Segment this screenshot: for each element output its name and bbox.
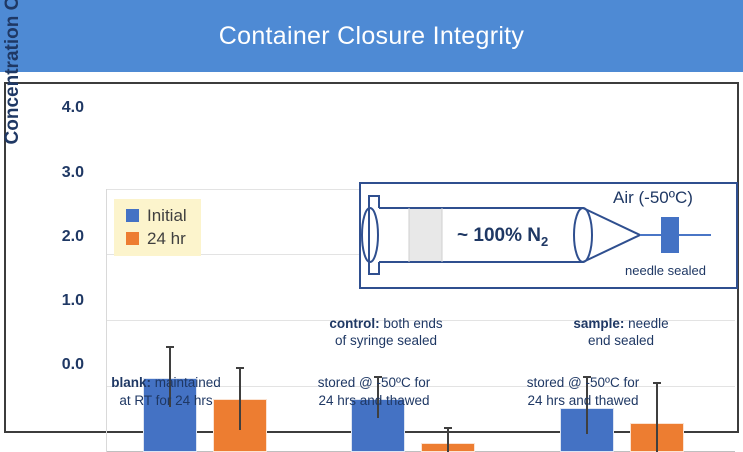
legend-item-24hr[interactable]: 24 hr xyxy=(126,227,187,250)
error-bar-24hr-control xyxy=(447,428,449,452)
y-axis-title-text: Concentration O xyxy=(2,0,23,144)
annotation-control-line2: of syringe sealed xyxy=(291,333,481,350)
legend-label-24hr: 24 hr xyxy=(147,229,186,249)
annotation-control-line1: both ends xyxy=(380,316,443,331)
square-swatch-orange-icon xyxy=(126,232,139,245)
annotation-sample-keyword: sample: xyxy=(573,316,624,331)
legend-item-initial[interactable]: Initial xyxy=(126,204,187,227)
chart-legend: Initial 24 hr xyxy=(114,199,201,256)
square-swatch-blue-icon xyxy=(126,209,139,222)
category-label-sample: stored @ -50ºC for 24 hrs and thawed xyxy=(478,374,688,409)
category-blank-line2: at RT for 24 hrs xyxy=(61,392,271,410)
category-sample-line2: 24 hrs and thawed xyxy=(478,392,688,410)
category-control-line2: 24 hrs and thawed xyxy=(269,392,479,410)
syringe-gas-label: ~ 100% N2 xyxy=(457,225,548,249)
legend-label-initial: Initial xyxy=(147,206,187,226)
category-label-control: stored @ -50ºC for 24 hrs and thawed xyxy=(269,374,479,409)
annotation-sample: sample: needle end sealed xyxy=(526,316,716,350)
page-title: Container Closure Integrity xyxy=(219,22,524,51)
chart-container: Concentration O2 (%) 4.0 3.0 2.0 1.0 0.0 xyxy=(4,82,739,433)
annotation-control: control: both ends of syringe sealed xyxy=(291,316,481,350)
y-tick-label-3: 3.0 xyxy=(40,164,84,182)
y-tick-label-0: 0.0 xyxy=(40,356,84,374)
error-cap-top-24hr-control xyxy=(444,427,452,429)
annotation-sample-line2: end sealed xyxy=(526,333,716,350)
syringe-gas-label-text: ~ 100% N xyxy=(457,225,541,246)
y-axis-title: Concentration O2 (%) xyxy=(2,0,26,174)
annotation-sample-line1: needle xyxy=(624,316,668,331)
syringe-air-label: Air (-50ºC) xyxy=(613,188,693,208)
syringe-gas-label-subscript: 2 xyxy=(541,234,548,249)
error-cap-top-24hr-blank xyxy=(236,367,244,369)
annotation-control-keyword: control: xyxy=(329,316,379,331)
category-sample-line1: stored @ -50ºC for xyxy=(478,374,688,392)
category-blank-keyword: blank: xyxy=(111,375,151,390)
category-label-blank: blank: maintained at RT for 24 hrs xyxy=(61,374,271,409)
error-cap-top-initial-blank xyxy=(166,346,174,348)
y-tick-label-1: 1.0 xyxy=(40,292,84,310)
syringe-needle-label: needle sealed xyxy=(625,263,706,278)
y-tick-label-2: 2.0 xyxy=(40,228,84,246)
category-blank-line1: maintained xyxy=(151,375,221,390)
syringe-diagram: Air (-50ºC) ~ 100% N2 needle sealed xyxy=(359,182,738,289)
category-control-line1: stored @ -50ºC for xyxy=(269,374,479,392)
y-tick-label-4: 4.0 xyxy=(40,99,84,117)
title-banner: Container Closure Integrity xyxy=(0,0,743,72)
